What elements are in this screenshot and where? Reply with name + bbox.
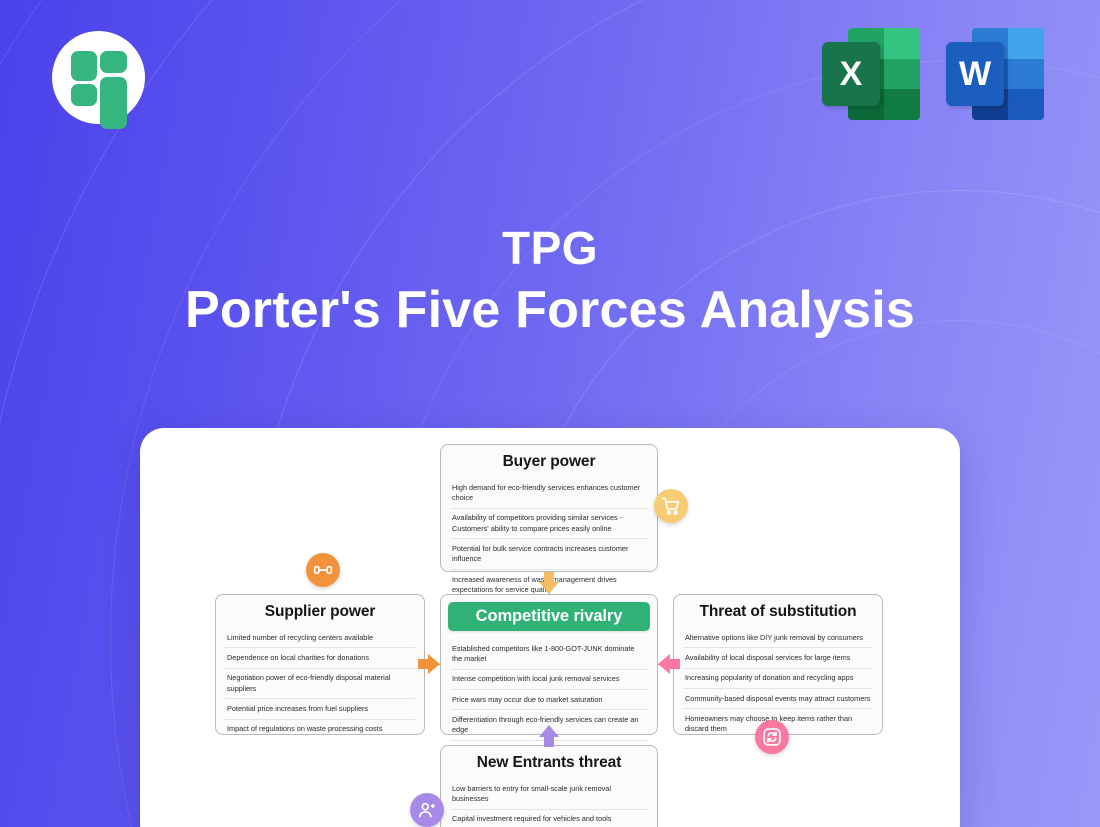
list-item: Price wars may occur due to market satur… [450, 690, 648, 710]
user-plus-icon [417, 800, 437, 820]
badge-buyer-power[interactable] [654, 489, 688, 523]
arrow-buyer-to-rivalry-icon [539, 572, 559, 594]
list-item: Availability of local disposal services … [683, 648, 873, 668]
list-item: Capital investment required for vehicles… [450, 810, 648, 827]
list-item: High demand for eco-friendly services en… [450, 478, 648, 509]
app-logo[interactable] [52, 31, 145, 124]
badge-threat-of-substitution[interactable] [755, 720, 789, 754]
page-title: TPG Porter's Five Forces Analysis [0, 222, 1100, 344]
grid-tiles-logo-icon [71, 51, 127, 105]
list-item: Limited number of recycling centers avai… [225, 628, 415, 648]
excel-icon[interactable]: X [822, 28, 920, 120]
list-item: Alternative options like DIY junk remova… [683, 628, 873, 648]
excel-icon-letter: X [822, 42, 880, 106]
force-box-threat-of-substitution[interactable]: Threat of substitution Alternative optio… [673, 594, 883, 735]
force-title-new-entrants-threat: New Entrants threat [450, 754, 648, 772]
force-box-new-entrants-threat[interactable]: New Entrants threat Low barriers to entr… [440, 745, 658, 827]
link-dumbbell-icon [313, 560, 333, 580]
force-box-supplier-power[interactable]: Supplier power Limited number of recycli… [215, 594, 425, 735]
word-icon[interactable]: W [946, 28, 1044, 120]
badge-new-entrants-threat[interactable] [410, 793, 444, 827]
title-company: TPG [0, 222, 1100, 275]
force-title-competitive-rivalry: Competitive rivalry [448, 602, 650, 631]
force-items-new-entrants-threat: Low barriers to entry for small-scale ju… [450, 779, 648, 827]
force-items-supplier-power: Limited number of recycling centers avai… [225, 628, 415, 739]
arrow-substitution-to-rivalry-icon [658, 654, 680, 674]
list-item: Potential price increases from fuel supp… [225, 699, 415, 719]
diagram-card: Buyer power High demand for eco-friendly… [140, 428, 960, 827]
list-item: Low barriers to entry for small-scale ju… [450, 779, 648, 810]
arrow-supplier-to-rivalry-icon [418, 654, 440, 674]
porters-five-forces-diagram: Buyer power High demand for eco-friendly… [140, 428, 960, 827]
list-item: Established competitors like 1-800-GOT-J… [450, 639, 648, 670]
list-item: Increasing popularity of donation and re… [683, 669, 873, 689]
list-item: Community-based disposal events may attr… [683, 689, 873, 709]
arrow-entrants-to-rivalry-icon [539, 725, 559, 747]
list-item: Intense competition with local junk remo… [450, 670, 648, 690]
list-item: Availability of competitors providing si… [450, 509, 648, 540]
title-subject: Porter's Five Forces Analysis [0, 277, 1100, 345]
word-icon-letter: W [946, 42, 1004, 106]
list-item: Impact of regulations on waste processin… [225, 720, 415, 739]
refresh-sync-icon [762, 727, 782, 747]
force-box-buyer-power[interactable]: Buyer power High demand for eco-friendly… [440, 444, 658, 572]
export-format-icons: X W [822, 28, 1044, 120]
force-title-supplier-power: Supplier power [225, 603, 415, 621]
badge-supplier-power[interactable] [306, 553, 340, 587]
list-item: Negotiation power of eco-friendly dispos… [225, 669, 415, 700]
force-title-buyer-power: Buyer power [450, 453, 648, 471]
list-item: Dependence on local charities for donati… [225, 648, 415, 668]
hero-background: X W TPG Porter's Five Forces Analysis Bu… [0, 0, 1100, 827]
list-item: Potential for bulk service contracts inc… [450, 539, 648, 570]
force-box-competitive-rivalry[interactable]: Competitive rivalry Established competit… [440, 594, 658, 735]
shopping-cart-icon [661, 496, 681, 516]
force-title-threat-of-substitution: Threat of substitution [683, 603, 873, 621]
